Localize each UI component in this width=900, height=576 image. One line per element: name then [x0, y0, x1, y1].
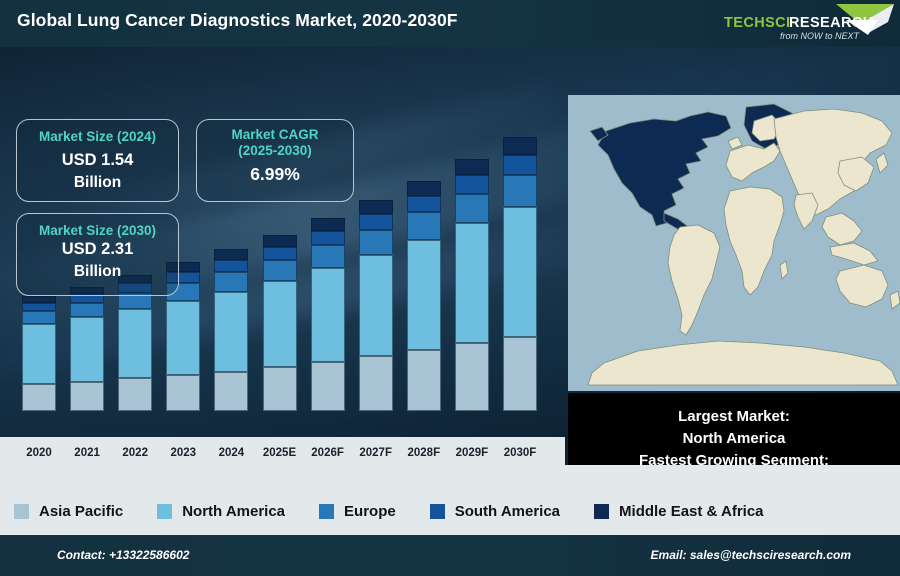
bar-segment-europe	[359, 230, 393, 255]
bar-segment-europe	[407, 212, 441, 239]
chart-legend: Asia PacificNorth AmericaEuropeSouth Ame…	[0, 489, 900, 534]
footer-contact: Contact: +13322586602	[57, 548, 189, 562]
legend-swatch-icon	[14, 504, 29, 519]
bar-segment-europe	[311, 245, 345, 268]
bar-segment-north-america	[118, 309, 152, 378]
bar-segment-asia-pacific	[503, 337, 537, 411]
world-map-artwork	[568, 95, 900, 391]
legend-label: Europe	[344, 503, 396, 520]
key-insights-box: Largest Market: North America Fastest Gr…	[568, 393, 900, 465]
bar-segment-north-america	[22, 324, 56, 384]
largest-market-value: North America	[683, 428, 786, 450]
page-header: Global Lung Cancer Diagnostics Market, 2…	[0, 0, 900, 47]
page-title: Global Lung Cancer Diagnostics Market, 2…	[17, 10, 458, 31]
bar-segment-europe	[263, 260, 297, 281]
stat-card-unit: Billion	[17, 174, 178, 192]
bar-segment-middle-east-africa	[407, 181, 441, 196]
bar-2024	[214, 249, 248, 411]
bar-segment-asia-pacific	[166, 375, 200, 411]
bar-segment-south-america	[311, 231, 345, 245]
bar-segment-asia-pacific	[263, 367, 297, 411]
bar-segment-south-america	[455, 175, 489, 194]
bar-segment-asia-pacific	[311, 362, 345, 411]
bar-segment-north-america	[407, 240, 441, 350]
bar-segment-asia-pacific	[118, 378, 152, 411]
chart-canvas: Market Size (2024) USD 1.54 Billion Mark…	[0, 47, 900, 465]
bar-segment-south-america	[359, 214, 393, 229]
legend-item-europe[interactable]: Europe	[319, 503, 396, 520]
legend-item-south-america[interactable]: South America	[430, 503, 560, 520]
stat-card-label-line2: (2025-2030)	[197, 143, 353, 159]
bar-segment-middle-east-africa	[311, 218, 345, 231]
legend-swatch-icon	[157, 504, 172, 519]
bar-segment-south-america	[214, 260, 248, 272]
legend-swatch-icon	[594, 504, 609, 519]
bar-segment-south-america	[503, 155, 537, 175]
stat-card-label: Market Size (2024)	[17, 129, 178, 145]
bar-segment-north-america	[263, 281, 297, 367]
bar-segment-europe	[22, 311, 56, 324]
stat-card-label-line1: Market CAGR	[197, 127, 353, 143]
bar-2021	[70, 286, 104, 411]
page-footer: Contact: +13322586602 Email: sales@techs…	[0, 535, 900, 576]
svg-text:from NOW to NEXT: from NOW to NEXT	[780, 31, 861, 41]
bar-segment-north-america	[503, 207, 537, 337]
logo-artwork: TECHSCI RESEARCH from NOW to NEXT	[718, 2, 896, 46]
bar-segment-europe	[455, 194, 489, 223]
legend-swatch-icon	[319, 504, 334, 519]
legend-item-north-america[interactable]: North America	[157, 503, 285, 520]
infographic-page: Global Lung Cancer Diagnostics Market, 2…	[0, 0, 900, 576]
bar-segment-south-america	[263, 247, 297, 260]
stat-card-unit: Billion	[17, 263, 178, 281]
stat-card-value: USD 1.54	[17, 150, 178, 171]
bar-2025E	[263, 235, 297, 411]
legend-label: South America	[455, 503, 560, 520]
legend-item-asia-pacific[interactable]: Asia Pacific	[14, 503, 123, 520]
legend-swatch-icon	[430, 504, 445, 519]
bar-segment-asia-pacific	[407, 350, 441, 411]
legend-label: Middle East & Africa	[619, 503, 763, 520]
bar-2030F	[503, 137, 537, 411]
bar-2027F	[359, 200, 393, 411]
bar-segment-middle-east-africa	[214, 249, 248, 260]
bar-segment-middle-east-africa	[503, 137, 537, 156]
bar-segment-south-america	[22, 303, 56, 311]
legend-item-middle-east-africa[interactable]: Middle East & Africa	[594, 503, 763, 520]
bar-segment-middle-east-africa	[359, 200, 393, 214]
svg-text:TECHSCI: TECHSCI	[724, 15, 790, 31]
bar-segment-asia-pacific	[22, 384, 56, 411]
x-axis-label-2030F: 2030F	[491, 447, 549, 459]
bar-segment-middle-east-africa	[455, 159, 489, 175]
bar-segment-north-america	[359, 255, 393, 357]
x-axis-labels: 202020212022202320242025E2026F2027F2028F…	[0, 437, 565, 465]
stat-card-label: Market Size (2030)	[17, 223, 178, 239]
footer-email: Email: sales@techsciresearch.com	[651, 548, 851, 562]
legend-label: Asia Pacific	[39, 503, 123, 520]
bar-segment-asia-pacific	[359, 356, 393, 411]
bar-segment-europe	[503, 175, 537, 207]
bar-2028F	[407, 181, 441, 411]
stat-card-market-size-2030: Market Size (2030) USD 2.31 Billion	[16, 213, 179, 296]
bar-2026F	[311, 218, 345, 411]
techsci-research-logo: TECHSCI RESEARCH from NOW to NEXT	[718, 2, 896, 46]
bar-2020	[22, 296, 56, 411]
bar-segment-north-america	[166, 301, 200, 375]
bar-segment-north-america	[311, 268, 345, 362]
bar-segment-asia-pacific	[70, 382, 104, 411]
stat-card-market-size-2024: Market Size (2024) USD 1.54 Billion	[16, 119, 179, 202]
stat-card-value: 6.99%	[197, 164, 353, 185]
bar-2029F	[455, 159, 489, 411]
bar-segment-europe	[214, 272, 248, 292]
stat-card-value: USD 2.31	[17, 239, 178, 260]
bar-segment-asia-pacific	[455, 343, 489, 411]
legend-label: North America	[182, 503, 285, 520]
world-map	[568, 95, 900, 391]
bar-segment-north-america	[455, 223, 489, 343]
svg-text:RESEARCH: RESEARCH	[789, 15, 874, 31]
stat-card-market-cagr: Market CAGR (2025-2030) 6.99%	[196, 119, 354, 202]
bar-segment-south-america	[407, 196, 441, 212]
bar-segment-north-america	[214, 292, 248, 372]
bar-segment-north-america	[70, 317, 104, 381]
bar-segment-asia-pacific	[214, 372, 248, 411]
bar-segment-middle-east-africa	[263, 235, 297, 247]
bar-segment-europe	[70, 303, 104, 317]
fastest-segment-label: Fastest Growing Segment:	[639, 450, 829, 465]
largest-market-label: Largest Market:	[678, 406, 790, 428]
